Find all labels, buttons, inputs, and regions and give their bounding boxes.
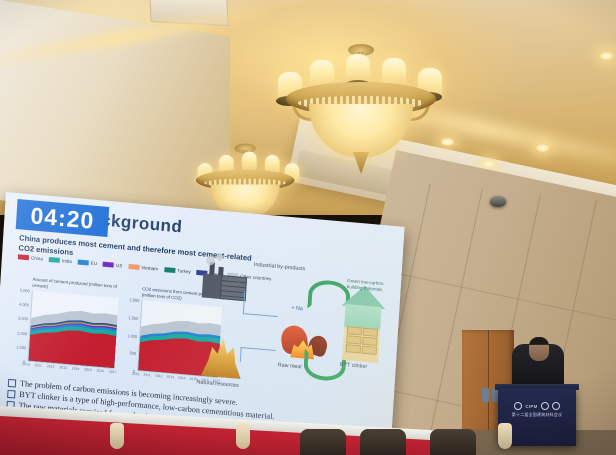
natural-resources-icon (201, 336, 243, 379)
chair-back (360, 429, 406, 455)
legend-item: US (103, 262, 123, 269)
y-tick-label: 2,000 (123, 297, 139, 303)
label-plus-na: + Na (291, 305, 303, 312)
chair-back (430, 429, 476, 455)
chair-back (300, 429, 346, 455)
y-tick-label: 3,000 (12, 315, 28, 321)
y-tick-label: 500 (120, 350, 136, 356)
y-tick-label: 4,000 (13, 301, 29, 307)
podium-logo: CIPM (504, 402, 570, 410)
x-tick-label: 2010 (22, 362, 30, 367)
legend-item: India (49, 257, 72, 264)
chandelier-large (276, 52, 446, 172)
label-industrial-by-products: Industrial by-products (254, 262, 306, 272)
x-tick-label: 2014 (72, 366, 80, 371)
logo-mark-icon (552, 402, 560, 410)
y-tick-label: 1,500 (122, 314, 138, 320)
x-tick-label: 2011 (34, 363, 42, 368)
plant-pot (110, 423, 124, 449)
chart-cement-production: Amount of cement produced (million tons … (5, 275, 121, 382)
conference-hall-photo: Background 04:20 China produces most cem… (0, 0, 616, 455)
x-tick-label: 2017 (109, 370, 117, 375)
checkbox-icon (8, 379, 16, 388)
x-tick-label: 2012 (155, 374, 163, 379)
plant-pot (498, 423, 512, 449)
x-tick-label: 2013 (59, 365, 67, 370)
podium-brand: CIPM (525, 404, 537, 409)
logo-mark-icon (541, 402, 549, 410)
x-tick-label: 2016 (96, 369, 104, 374)
downlight-icon (482, 160, 495, 168)
x-tick-label: 2013 (166, 375, 174, 380)
x-tick-label: 2014 (178, 376, 186, 381)
legend-item: EU (78, 260, 98, 267)
legend-item: Turkey (164, 267, 191, 274)
checkbox-icon (7, 390, 15, 399)
factory-icon (202, 262, 248, 302)
speaker-head (529, 337, 549, 361)
y-tick-label: 2,000 (11, 330, 27, 336)
y-tick-label: 1,000 (10, 344, 26, 350)
area-chart-svg (28, 291, 118, 369)
label-raw-meal: Raw meal (277, 362, 301, 370)
green-building-icon (338, 284, 387, 364)
legend-item: China (18, 254, 43, 261)
x-tick-label: 2015 (84, 367, 92, 372)
plot-area (27, 291, 118, 369)
x-tick-label: 2012 (47, 364, 55, 369)
y-tick-label: 5,000 (14, 287, 30, 293)
y-tick-label: 1,000 (121, 332, 137, 338)
downlight-icon (600, 52, 613, 60)
x-tick-label: 2011 (143, 373, 151, 378)
x-tick-label: 2010 (132, 372, 140, 377)
security-camera-icon (490, 196, 506, 207)
process-diagram: Industrial by-products Natural resources… (189, 243, 398, 420)
countdown-timer: 04:20 (16, 199, 110, 237)
timer-value: 04:20 (30, 202, 95, 235)
legend-item: Vietnam (128, 264, 158, 272)
plant-pot (236, 423, 250, 449)
logo-mark-icon (514, 402, 522, 410)
downlight-icon (536, 144, 549, 152)
podium-chinese-text: 第十二届全国建筑材料会议 (504, 412, 570, 418)
label-natural-resources: Natural resources (196, 379, 239, 389)
